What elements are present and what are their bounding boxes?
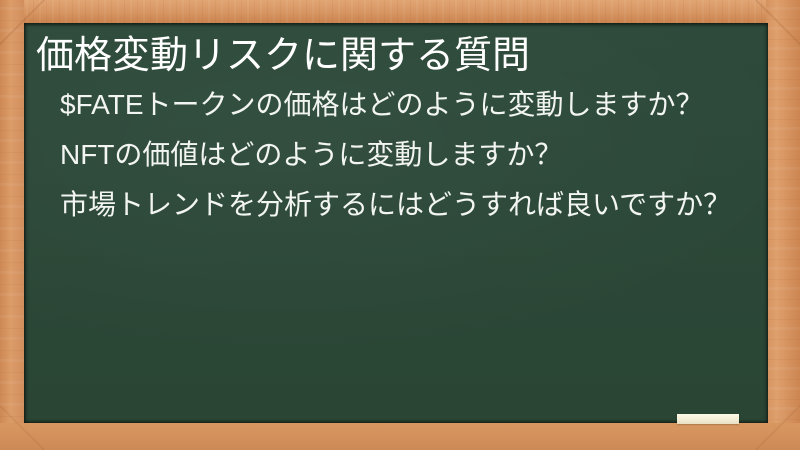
question-list: $FATEトークンの価格はどのように変動しますか？ NFTの価値はどのように変動… [30, 83, 754, 226]
question-item-3: 市場トレンドを分析するにはどうすれば良いですか？ [30, 183, 754, 226]
board-title: 価格変動リスクに関する質問 [30, 29, 754, 83]
question-item-1: $FATEトークンの価格はどのように変動しますか？ [30, 83, 754, 126]
question-item-2: NFTの価値はどのように変動しますか？ [30, 133, 754, 176]
chalk-piece-icon [677, 414, 739, 424]
frame-rail-top [0, 0, 800, 23]
chalkboard-surface: 価格変動リスクに関する質問 $FATEトークンの価格はどのように変動しますか？ … [24, 23, 768, 423]
chalkboard-content: 価格変動リスクに関する質問 $FATEトークンの価格はどのように変動しますか？ … [24, 23, 768, 423]
frame-rail-right [766, 0, 800, 450]
frame-rail-left [0, 0, 24, 450]
chalkboard-slide: 価格変動リスクに関する質問 $FATEトークンの価格はどのように変動しますか？ … [0, 0, 800, 450]
frame-ledge-bottom [0, 423, 800, 450]
